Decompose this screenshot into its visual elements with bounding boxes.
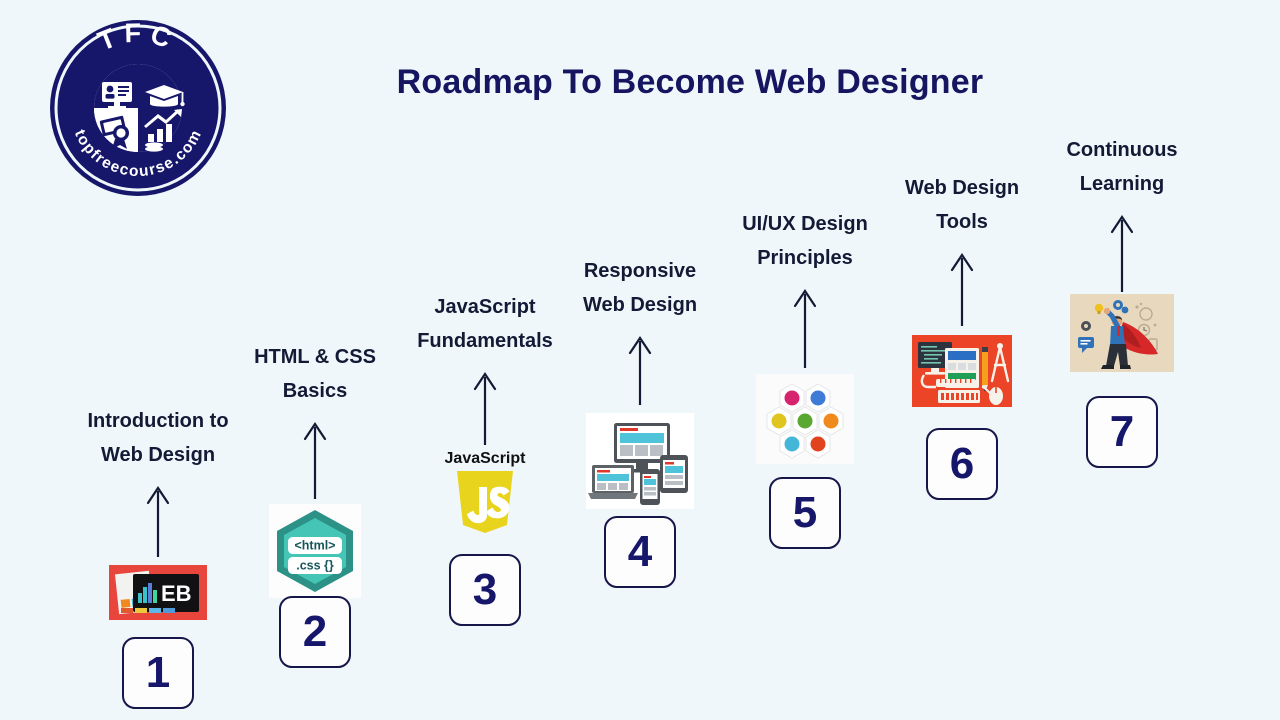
step-5-arrow-icon: [792, 286, 818, 368]
step-4-label: Responsive Web Design: [583, 255, 697, 322]
step-2-number-box: 2: [279, 596, 351, 668]
step-6-label: Web Design Tools: [905, 172, 1019, 239]
step-4-arrow-icon: [627, 333, 653, 405]
step-7-arrow-icon: [1109, 212, 1135, 292]
html-tag-text: <html>: [295, 539, 336, 553]
css-tag-text: .css {}: [296, 559, 334, 573]
step-6-arrow-icon: [949, 250, 975, 326]
honeycomb-hexagons-icon: [756, 374, 854, 464]
responsive-devices-icon: [586, 413, 694, 509]
topfreecourse-logo: TFC topfreecourse.com: [44, 10, 232, 202]
javascript-logo-icon: JavaScript: [435, 449, 535, 535]
superhero-learning-icon: [1070, 294, 1174, 372]
step-4-number-box: 4: [604, 516, 676, 588]
step-2-arrow-icon: [302, 419, 328, 499]
step-2-label: HTML & CSS Basics: [254, 341, 376, 408]
design-tools-icon: [912, 335, 1012, 407]
roadmap-step-7: Continuous Learning: [1022, 134, 1222, 464]
step-6-number-box: 6: [926, 428, 998, 500]
step-7-number-box: 7: [1086, 396, 1158, 468]
step-3-arrow-icon: [472, 369, 498, 445]
step-5-label: UI/UX Design Principles: [742, 208, 868, 275]
html-css-hexagon-icon: <html> .css {}: [269, 504, 361, 598]
javascript-wordmark: JavaScript: [445, 450, 527, 467]
page-title: Roadmap To Become Web Designer: [330, 63, 1050, 102]
step-1-number-box: 1: [122, 637, 194, 709]
web-design-thumbnail-icon: EB: [109, 565, 207, 620]
step-1-label: Introduction to Web Design: [87, 405, 228, 472]
step-1-arrow-icon: [145, 483, 171, 557]
step-3-number-box: 3: [449, 554, 521, 626]
svg-text:EB: EB: [161, 581, 192, 606]
step-5-number-box: 5: [769, 477, 841, 549]
step-3-label: JavaScript Fundamentals: [417, 291, 553, 358]
step-7-label: Continuous Learning: [1066, 134, 1177, 201]
